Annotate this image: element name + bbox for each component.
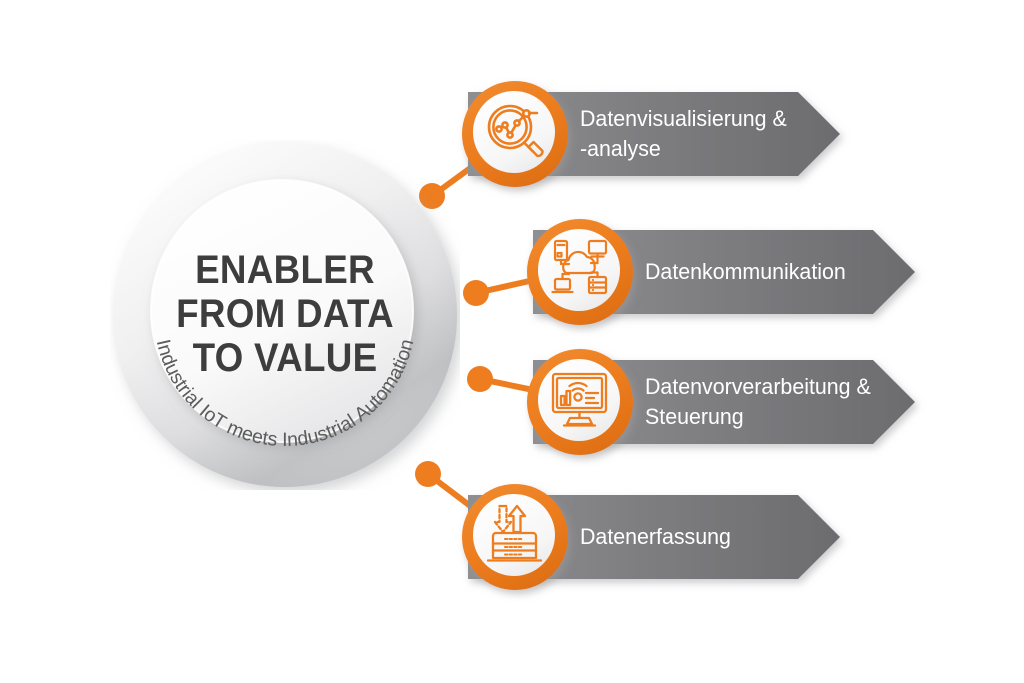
step-row-3[interactable]: Datenvorverarbeitung & Steuerung bbox=[527, 346, 927, 458]
step-badge-2[interactable] bbox=[527, 219, 633, 325]
step-label-4: Datenerfassung bbox=[580, 522, 731, 552]
step-badge-1[interactable] bbox=[462, 81, 568, 187]
badge-face-2 bbox=[538, 229, 620, 311]
step-badge-4[interactable] bbox=[462, 484, 568, 590]
center-hub: Industrial IoT meets Industrial Automati… bbox=[110, 140, 460, 490]
connector-dot-3 bbox=[467, 366, 493, 392]
step-row-1[interactable]: Datenvisualisierung & -analyse bbox=[462, 78, 852, 190]
step-label-2: Datenkommunikation bbox=[645, 257, 846, 287]
step-row-2[interactable]: Datenkommunikation bbox=[527, 216, 927, 328]
step-label-3: Datenvorverarbeitung & Steuerung bbox=[645, 372, 871, 432]
infographic-canvas: Industrial IoT meets Industrial Automati… bbox=[0, 0, 1024, 683]
step-label-1: Datenvisualisierung & -analyse bbox=[580, 104, 787, 164]
badge-face-4 bbox=[473, 494, 555, 576]
step-row-4[interactable]: Datenerfassung bbox=[462, 481, 852, 593]
badge-face-1 bbox=[473, 91, 555, 173]
step-badge-3[interactable] bbox=[527, 349, 633, 455]
connector-dot-2 bbox=[463, 280, 489, 306]
